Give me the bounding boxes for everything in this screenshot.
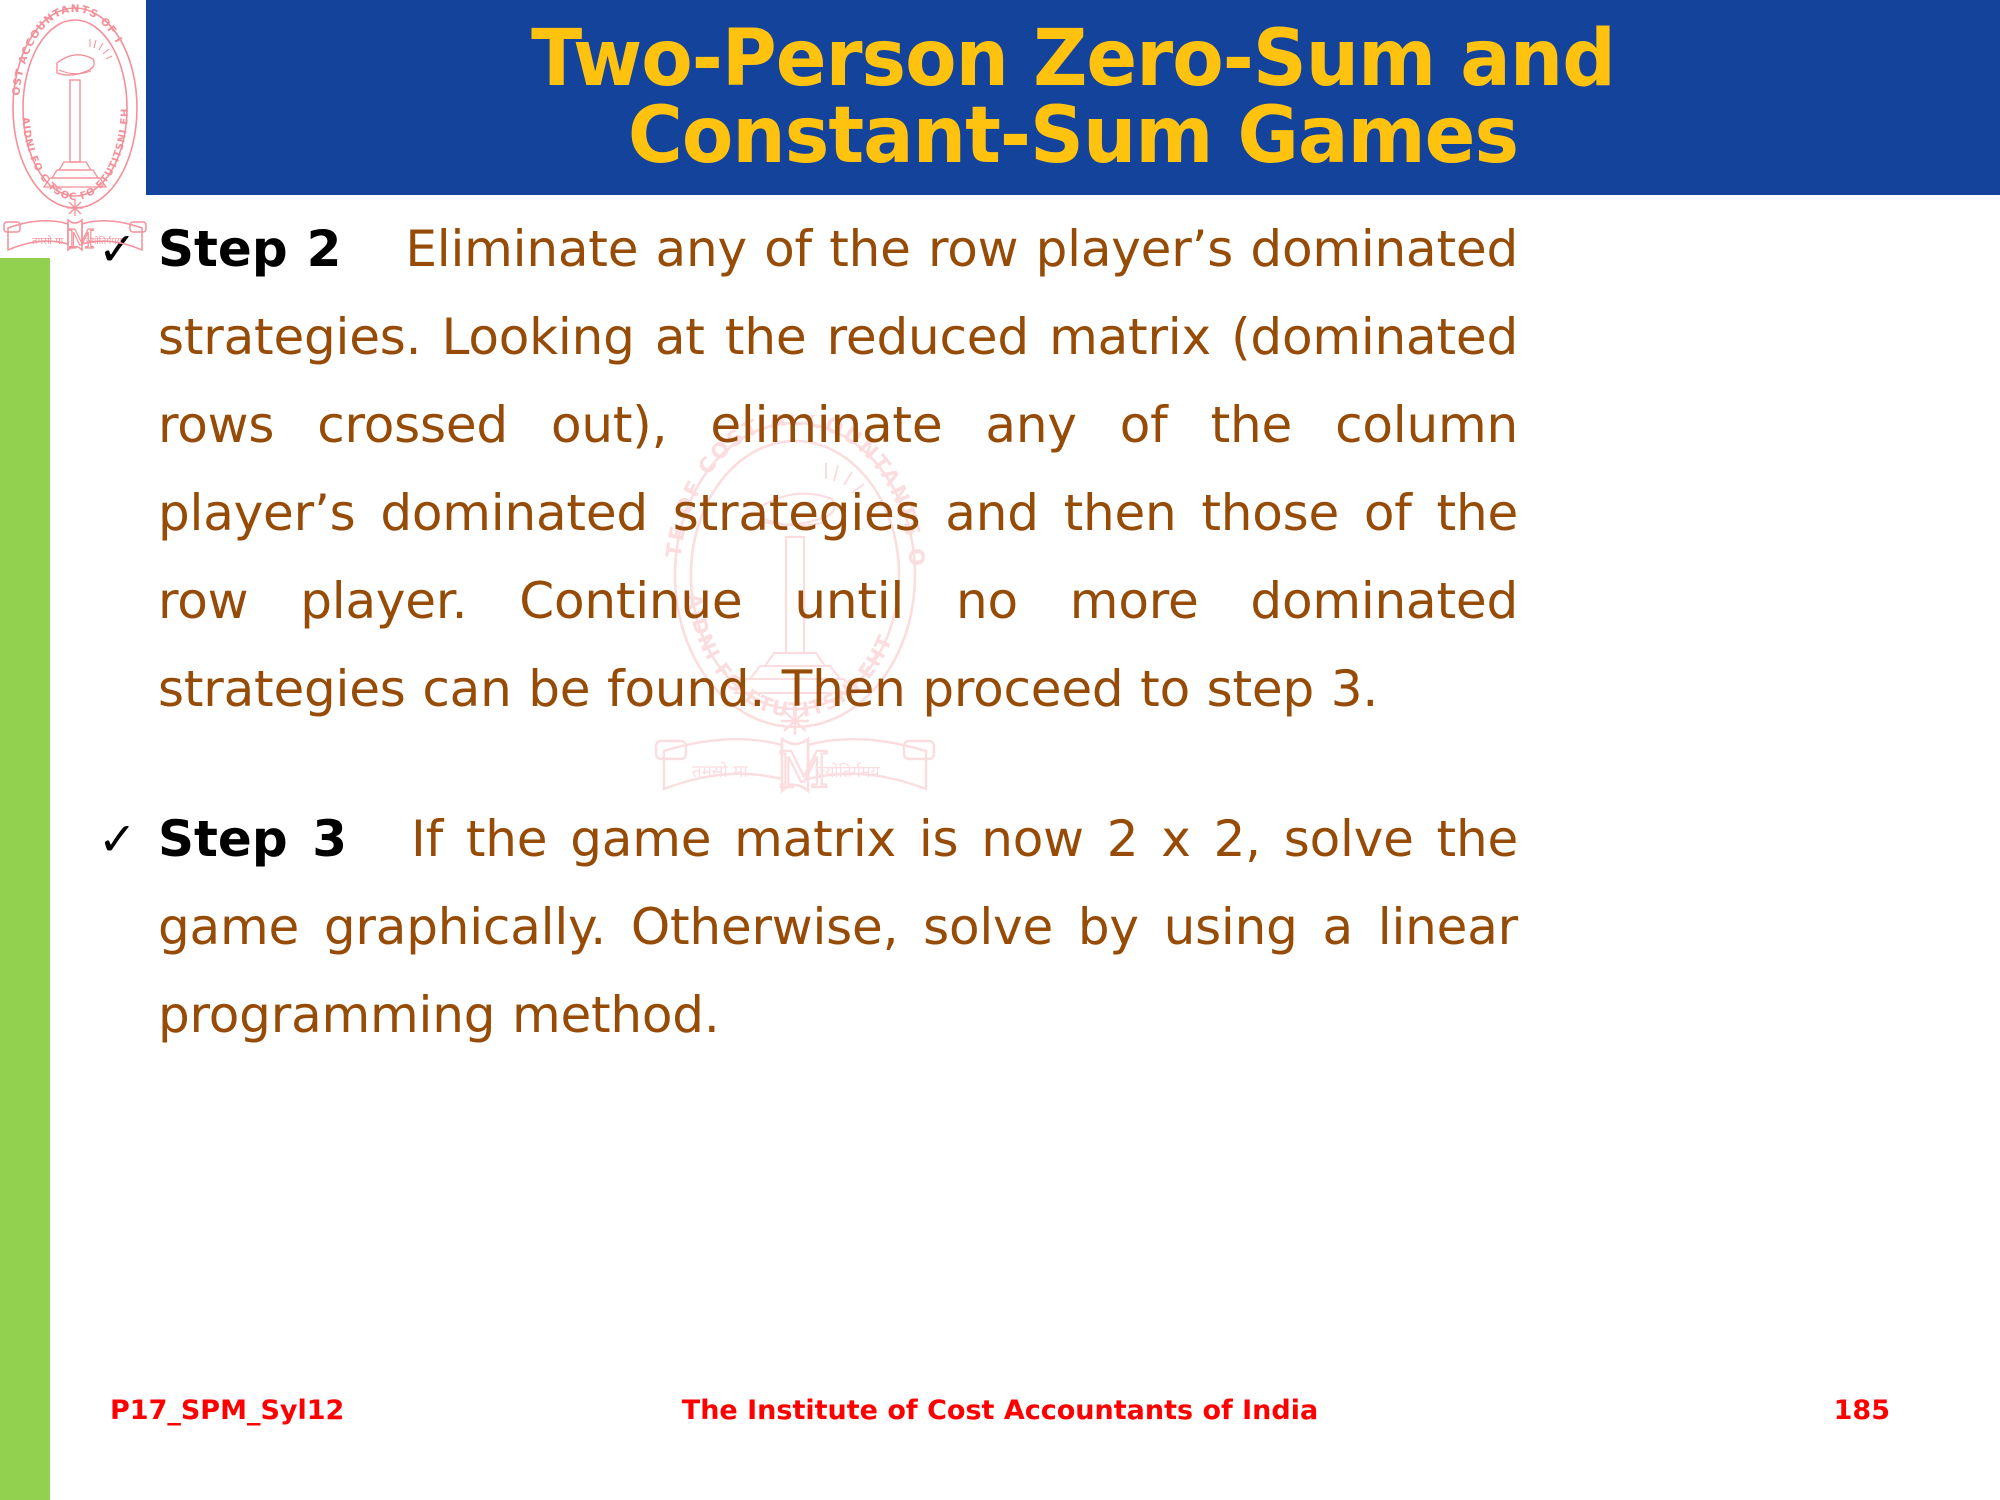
title-banner: Two-Person Zero-Sum and Constant-Sum Gam… (146, 0, 2000, 195)
institute-logo: OST ACCOUNTANTS OF I AIDNI FO C TSOC FO … (2, 0, 148, 258)
step-2-paragraph: Step 2Eliminate any of the row player’s … (158, 205, 1518, 733)
bullet-step-3: ✓ Step 3If the game matrix is now 2 x 2,… (90, 795, 1960, 1059)
slide-body: ✓ Step 2Eliminate any of the row player’… (90, 205, 1960, 1335)
step-3-label: Step 3 (158, 810, 347, 868)
step-3-paragraph: Step 3If the game matrix is now 2 x 2, s… (158, 795, 1518, 1059)
logo-monogram: M (68, 225, 95, 255)
left-accent-bar (0, 258, 50, 1500)
logo-banner-left: तमसो मा (32, 235, 64, 247)
slide-footer: P17_SPM_Syl12 The Institute of Cost Acco… (0, 1395, 2000, 1455)
title-line-2: Constant-Sum Games (221, 98, 1924, 174)
title-line-1: Two-Person Zero-Sum and (221, 21, 1924, 97)
bullet-step-2: ✓ Step 2Eliminate any of the row player’… (90, 205, 1960, 733)
footer-institute-name: The Institute of Cost Accountants of Ind… (0, 1395, 2000, 1426)
step-2-label: Step 2 (158, 220, 341, 278)
page-title: Two-Person Zero-Sum and Constant-Sum Gam… (183, 21, 1963, 174)
step-2-text: Eliminate any of the row player’s domina… (158, 220, 1518, 718)
footer-page-number: 185 (1834, 1395, 1890, 1426)
step-3-text: If the game matrix is now 2 x 2, solve t… (158, 810, 1518, 1044)
check-icon: ✓ (90, 795, 158, 883)
slide-canvas: Two-Person Zero-Sum and Constant-Sum Gam… (0, 0, 2000, 1500)
